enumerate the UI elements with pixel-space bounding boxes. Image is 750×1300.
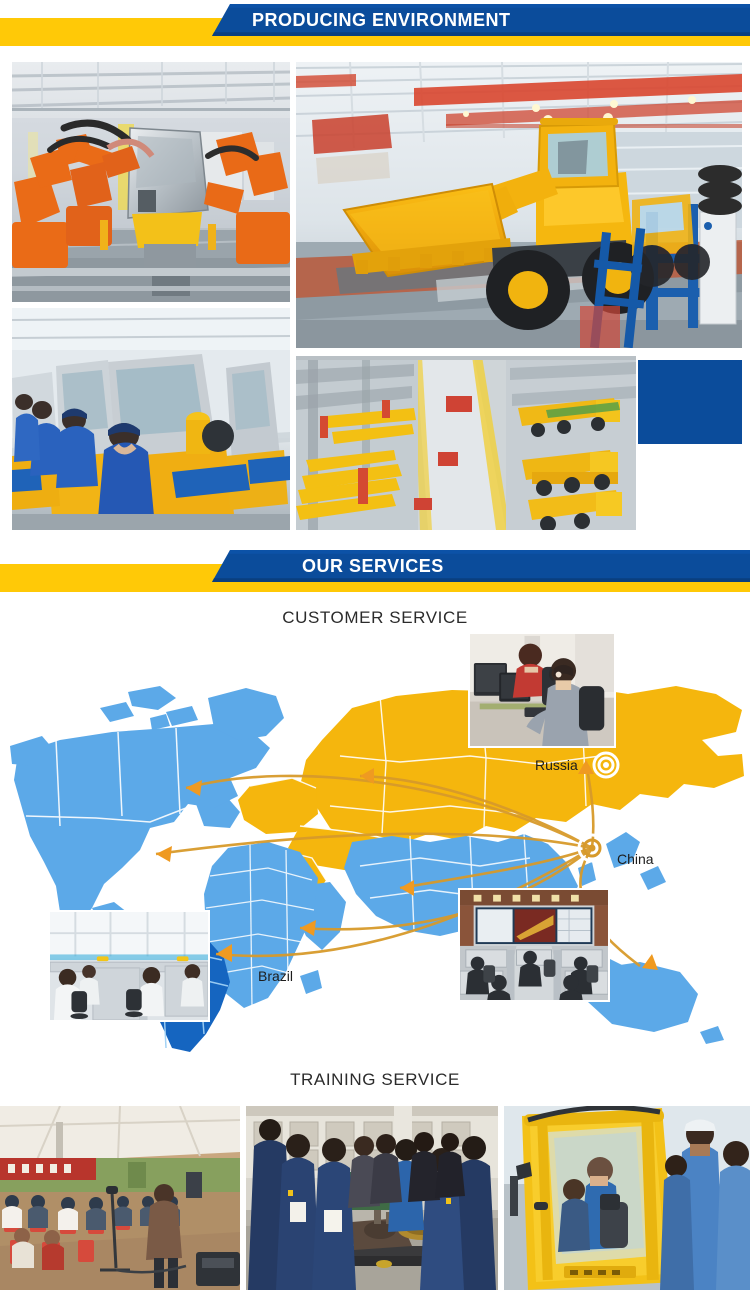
heading-customer-service: CUSTOMER SERVICE xyxy=(0,608,750,628)
world-service-map: Russia China Brazil xyxy=(0,636,750,1056)
photo-cab-assembly-workers xyxy=(12,308,290,530)
heading-training-service: TRAINING SERVICE xyxy=(0,1070,750,1090)
accent-blue-box xyxy=(638,360,742,444)
photo-wheel-loader-assembly-hall xyxy=(296,62,742,348)
map-label-russia: Russia xyxy=(535,757,578,773)
section-banner-our-services: OUR SERVICES xyxy=(0,546,750,598)
product-detail-page: PRODUCING ENVIRONMENT xyxy=(0,0,750,1300)
inset-brazil-office xyxy=(48,910,210,1022)
photo-boom-arm-workshop-overhead xyxy=(296,356,636,530)
section-banner-producing-environment: PRODUCING ENVIRONMENT xyxy=(0,0,750,52)
photo-training-outdoor-tent-seminar xyxy=(0,1106,240,1290)
banner-title-text: PRODUCING ENVIRONMENT xyxy=(252,6,511,34)
marker-russia xyxy=(594,753,618,777)
map-label-china: China xyxy=(617,851,654,867)
photo-robotic-welding-line xyxy=(12,62,290,302)
marker-china xyxy=(579,835,605,861)
inset-china-control-room xyxy=(458,888,610,1002)
banner-title-text-2: OUR SERVICES xyxy=(302,552,444,580)
photo-training-component-demo xyxy=(246,1106,498,1290)
inset-russia-callcenter xyxy=(468,632,616,748)
map-label-brazil: Brazil xyxy=(258,968,293,984)
photo-training-cab-operation xyxy=(504,1106,750,1290)
